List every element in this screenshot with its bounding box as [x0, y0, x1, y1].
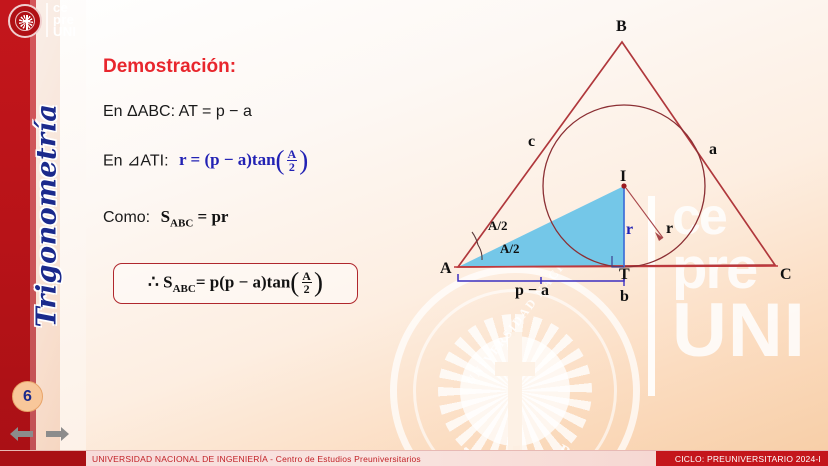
label-vertex-a: A — [440, 260, 452, 278]
next-arrow-svg — [44, 425, 71, 443]
result-fraction-denominator: 2 — [302, 282, 312, 295]
label-vertex-b: B — [616, 18, 627, 36]
formula-s-rest: = pr — [198, 207, 229, 226]
therefore-symbol: ∴ — [148, 272, 159, 291]
uni-seal-icon — [8, 4, 42, 38]
label-segment-pa: p − a — [515, 282, 549, 300]
label-side-a: a — [709, 141, 717, 159]
formula-s-subscript: ABC — [170, 217, 193, 229]
paren-open-2: ( — [290, 267, 299, 297]
label-tangent-t: T — [619, 266, 630, 284]
result-fraction-numerator: A — [300, 270, 313, 282]
page-title: Demostración: — [103, 56, 236, 78]
statement-line-2: En ⊿ATI: r = (p − a)tan(A2) — [103, 148, 308, 175]
label-vertex-c: C — [780, 266, 792, 284]
label-side-c: c — [528, 133, 535, 151]
footer-rail-block — [0, 451, 86, 466]
triangle-diagram-svg — [420, 8, 820, 308]
subject-title-vertical: Trigonometría — [32, 101, 63, 331]
brand-logo-text: ce pre UNI — [53, 2, 76, 38]
prev-arrow-icon[interactable] — [8, 425, 35, 443]
footer-right-text: CICLO: PREUNIVERSITARIO 2024-I — [675, 454, 821, 464]
result-s-subscript: ABC — [173, 283, 196, 295]
label-incenter-i: I — [620, 168, 626, 186]
statement-line-3-prefix: Como: — [103, 209, 150, 226]
paren-close-1: ) — [299, 145, 308, 175]
result-fraction-a-over-2: A2 — [300, 270, 313, 295]
paren-open-1: ( — [276, 145, 285, 175]
label-half-angle-lower: A/2 — [500, 241, 520, 257]
label-side-b: b — [620, 288, 629, 306]
watermark-uni: UNI — [672, 300, 806, 362]
statement-line-1: En ΔABC: AT = p − a — [103, 103, 252, 121]
brand-logo-line-uni: UNI — [53, 26, 76, 38]
fraction-numerator: A — [286, 148, 299, 160]
formula-s-symbol: S — [161, 207, 170, 226]
result-s-symbol: S — [163, 272, 172, 291]
fraction-a-over-2: A2 — [286, 148, 299, 173]
result-formula-box: ∴ SABC= p(p − a)tan(A2) — [113, 263, 358, 304]
paren-close-2: ) — [314, 267, 323, 297]
label-half-angle-upper: A/2 — [488, 218, 508, 234]
geometry-figure: B A C I T c a b r r A/2 A/2 p − a — [420, 8, 820, 308]
page-number-badge: 6 — [12, 381, 43, 412]
result-rest: = p(p − a)tan — [196, 272, 290, 291]
fraction-denominator: 2 — [287, 160, 297, 173]
uni-cross-icon — [23, 15, 30, 30]
shaded-triangle-ait — [458, 186, 624, 267]
footer-left-text: UNIVERSIDAD NACIONAL DE INGENIERÍA - Cen… — [92, 454, 421, 464]
statement-line-1-text: En ΔABC: AT = p − a — [103, 103, 252, 120]
left-sidebar-rail: ce pre UNI Trigonometría 6 — [0, 0, 86, 466]
slide-root: ce pre UNI UNIVERSIDAD NACIONAL LIMA 187… — [0, 0, 828, 466]
label-radius-slant: r — [666, 220, 673, 238]
formula-r-lead: r = (p − a)tan — [179, 150, 276, 169]
logo-divider — [46, 3, 48, 37]
statement-line-2-prefix: En ⊿ATI: — [103, 152, 169, 169]
footer-bar: UNIVERSIDAD NACIONAL DE INGENIERÍA - Cen… — [0, 450, 828, 466]
next-arrow-icon[interactable] — [44, 425, 71, 443]
prev-arrow-svg — [8, 425, 35, 443]
statement-line-3: Como: SABC = pr — [103, 207, 228, 229]
result-formula-text: ∴ SABC= p(p − a)tan(A2) — [148, 270, 323, 297]
label-radius-vertical: r — [626, 221, 633, 239]
rail-curve-mask — [60, 0, 86, 466]
